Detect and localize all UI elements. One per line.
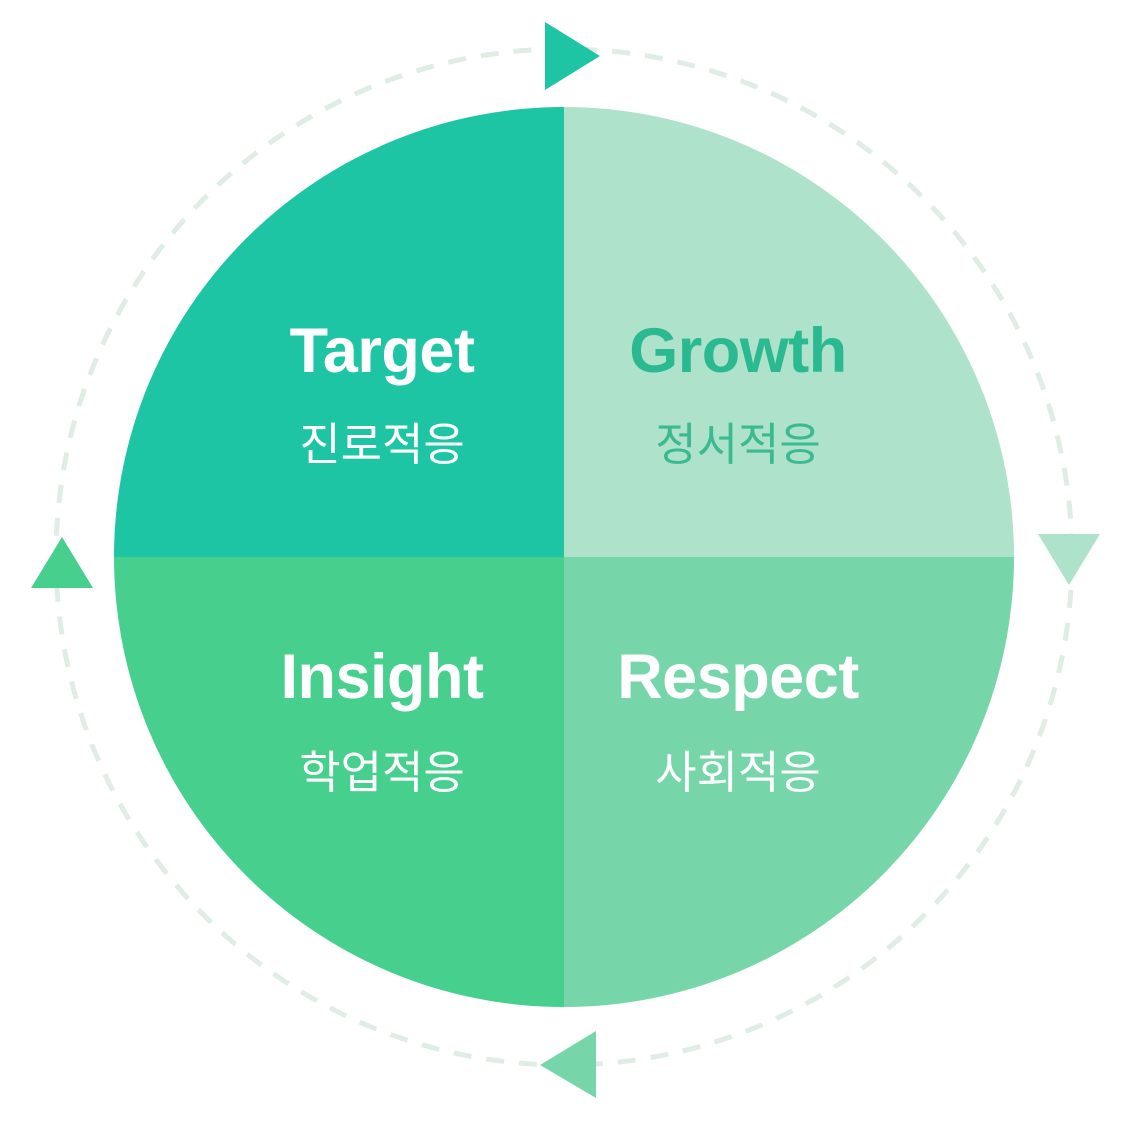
quadrant-subtitle-respect: 사회적응 — [655, 747, 821, 798]
cycle-arrow-right-down-icon — [1038, 534, 1100, 585]
cycle-arrow-left-up-icon — [31, 537, 93, 588]
cycle-diagram: Target 진로적응 Growth 정서적응 Insight 학업적응 Res… — [0, 0, 1125, 1127]
cycle-arrow-bottom-left-icon — [540, 1031, 596, 1098]
diagram-canvas: Target 진로적응 Growth 정서적응 Insight 학업적응 Res… — [0, 0, 1125, 1127]
quadrant-subtitle-growth: 정서적응 — [655, 419, 821, 470]
quadrant-subtitle-insight: 학업적응 — [299, 747, 465, 798]
quadrant-title-growth: Growth — [629, 316, 846, 386]
cycle-arrow-top-right-icon — [545, 22, 600, 90]
quadrant-title-respect: Respect — [617, 642, 859, 712]
quadrant-title-target: Target — [290, 316, 475, 386]
quadrant-title-insight: Insight — [281, 642, 484, 712]
quadrant-subtitle-target: 진로적응 — [299, 419, 465, 470]
